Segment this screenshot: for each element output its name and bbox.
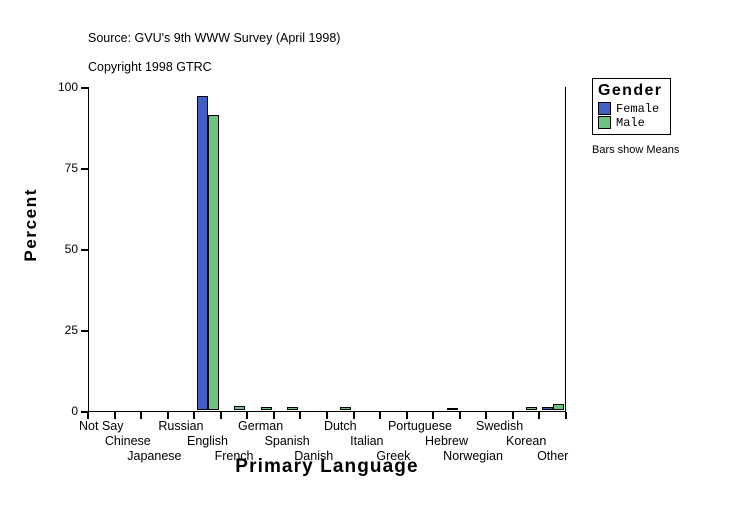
legend-note: Bars show Means <box>592 144 679 156</box>
x-axis-tick-mark <box>246 412 248 419</box>
x-axis-label-not-say: Not Say <box>79 420 123 433</box>
bar-female-english <box>197 96 208 410</box>
bar-male-french <box>234 406 245 410</box>
y-axis-tick-label: 50 <box>65 243 78 255</box>
x-axis-label-hebrew: Hebrew <box>425 435 468 448</box>
y-axis-line <box>88 87 89 412</box>
bar-male-english <box>208 115 219 410</box>
y-axis-tick-mark <box>81 249 88 251</box>
y-axis-tick-label: 100 <box>58 81 78 93</box>
x-axis-label-swedish: Swedish <box>476 420 523 433</box>
x-axis-tick-mark <box>167 412 169 419</box>
x-axis-tick-mark <box>114 412 116 419</box>
x-axis-tick-mark <box>565 412 567 419</box>
x-axis-label-chinese: Chinese <box>105 435 151 448</box>
y-axis-title: Percent <box>21 188 43 262</box>
y-axis-tick-mark <box>81 87 88 89</box>
y-axis-tick-label: 75 <box>65 162 78 174</box>
copyright-caption: Copyright 1998 GTRC <box>88 60 212 74</box>
bar-male-spanish <box>287 407 298 410</box>
bar-male-dutch <box>340 407 351 410</box>
bar-male-german <box>261 407 272 410</box>
x-axis-tick-mark <box>353 412 355 419</box>
x-axis-tick-mark <box>193 412 195 419</box>
bar-female-other <box>542 407 553 410</box>
x-axis-label-spanish: Spanish <box>265 435 310 448</box>
legend-item-male: Male <box>598 116 662 129</box>
x-axis-label-english: English <box>187 435 228 448</box>
y-axis-tick-label: 0 <box>71 405 78 417</box>
legend-label-female: Female <box>616 103 659 115</box>
legend-label-male: Male <box>616 117 645 129</box>
y-axis-tick-mark <box>81 330 88 332</box>
legend-title: Gender <box>598 82 662 100</box>
x-axis-tick-mark <box>326 412 328 419</box>
x-axis-tick-mark <box>273 412 275 419</box>
legend-entries: FemaleMale <box>598 102 662 129</box>
x-axis-title: Primary Language <box>88 456 566 478</box>
x-axis-tick-mark <box>538 412 540 419</box>
x-axis-label-portuguese: Portuguese <box>388 420 452 433</box>
x-axis-label-russian: Russian <box>158 420 203 433</box>
legend-item-female: Female <box>598 102 662 115</box>
y-axis-tick-mark <box>81 168 88 170</box>
x-axis-tick-mark <box>299 412 301 419</box>
x-axis-tick-mark <box>87 412 89 419</box>
chart-plot-area: 0255075100 <box>88 87 566 411</box>
x-axis-tick-mark <box>379 412 381 419</box>
x-axis-tick-mark <box>406 412 408 419</box>
plot-right-border <box>565 87 566 412</box>
x-axis-tick-mark <box>432 412 434 419</box>
x-axis-label-dutch: Dutch <box>324 420 357 433</box>
x-axis-tick-mark <box>140 412 142 419</box>
source-caption: Source: GVU's 9th WWW Survey (April 1998… <box>88 31 340 45</box>
y-axis-tick-label: 25 <box>65 324 78 336</box>
x-axis-label-italian: Italian <box>350 435 383 448</box>
x-axis-tick-mark <box>220 412 222 419</box>
x-axis-label-german: German <box>238 420 283 433</box>
x-axis-tick-mark <box>459 412 461 419</box>
legend-swatch-female <box>598 102 611 115</box>
bar-male-korean <box>526 407 537 410</box>
x-axis-tick-mark <box>485 412 487 419</box>
legend: Gender FemaleMale <box>592 78 671 135</box>
bar-male-other <box>553 404 564 410</box>
x-axis-label-korean: Korean <box>506 435 546 448</box>
legend-swatch-male <box>598 116 611 129</box>
bar-male-hebrew <box>447 408 458 410</box>
x-axis-tick-mark <box>512 412 514 419</box>
